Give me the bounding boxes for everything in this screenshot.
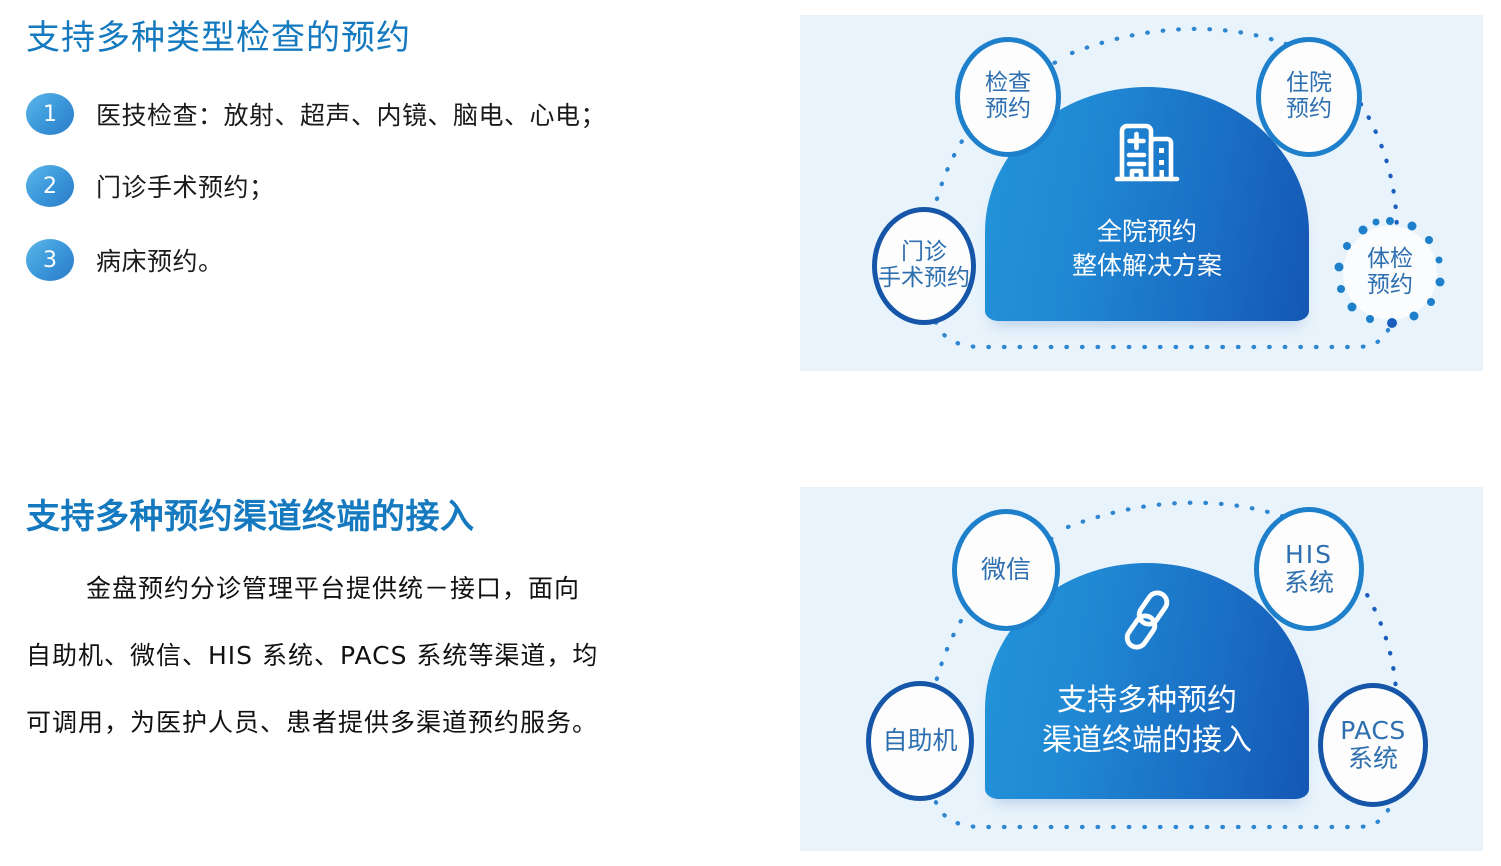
center-label-1-line2: 整体解决方案: [1072, 249, 1222, 283]
paragraph-line-1: 金盘预约分诊管理平台提供统－接口，面向: [26, 555, 726, 622]
section-2-paragraph: 金盘预约分诊管理平台提供统－接口，面向 自助机、微信、HIS 系统、PACS 系…: [26, 555, 726, 756]
link-icon: [1116, 589, 1178, 655]
node-tijian-line2: 预约: [1367, 273, 1413, 299]
node-jiancha-yuyue[interactable]: 检查 预约: [955, 37, 1061, 157]
center-label-2: 支持多种预约 渠道终端的接入: [1042, 681, 1252, 761]
node-kiosk[interactable]: 自助机: [866, 681, 974, 801]
slide-canvas: 支持多种类型检查的预约 1 医技检查：放射、超声、内镜、脑电、心电； 2 门诊手…: [0, 0, 1501, 866]
node-tijian-yuyue[interactable]: 体检 预约: [1342, 223, 1438, 323]
node-menzhen-line1: 门诊: [901, 240, 947, 266]
node-his-system[interactable]: HIS 系统: [1254, 507, 1364, 631]
node-weixin[interactable]: 微信: [952, 509, 1060, 631]
center-label-1-line1: 全院预约: [1072, 215, 1222, 249]
hospital-icon: [1112, 119, 1182, 193]
node-his-line1: HIS: [1284, 541, 1334, 569]
center-label-1: 全院预约 整体解决方案: [1072, 215, 1222, 282]
bullet-text-2: 门诊手术预约；: [96, 168, 275, 204]
node-zhuyuan-yuyue[interactable]: 住院 预约: [1256, 37, 1362, 157]
bullet-badge-3: 3: [26, 239, 74, 281]
center-label-2-line1: 支持多种预约: [1042, 681, 1252, 721]
paragraph-line-3: 可调用，为医护人员、患者提供多渠道预约服务。: [26, 689, 726, 756]
node-menzhen-shoushu-yuyue[interactable]: 门诊 手术预约: [872, 207, 976, 325]
bullet-text-1: 医技检查：放射、超声、内镜、脑电、心电；: [96, 96, 606, 132]
node-pacs-system[interactable]: PACS 系统: [1318, 683, 1428, 807]
center-label-2-line2: 渠道终端的接入: [1042, 721, 1252, 761]
node-weixin-line1: 微信: [981, 556, 1031, 584]
node-zhuyuan-line2: 预约: [1286, 97, 1332, 123]
section-1-title: 支持多种类型检查的预约: [26, 10, 411, 59]
diagram-panel-channel-access: 支持多种预约 渠道终端的接入 微信 HIS 系统 自助机: [800, 487, 1483, 851]
bullet-item-1: 1 医技检查：放射、超声、内镜、脑电、心电；: [26, 86, 606, 142]
diagram-panel-appointment-solution: 全院预约 整体解决方案 检查 预约 住院 预约: [800, 15, 1483, 371]
bullet-badge-1: 1: [26, 93, 74, 135]
paragraph-line-2: 自助机、微信、HIS 系统、PACS 系统等渠道，均: [26, 622, 726, 689]
bullet-item-2: 2 门诊手术预约；: [26, 158, 275, 214]
bullet-item-3: 3 病床预约。: [26, 232, 224, 288]
node-jiancha-line1: 检查: [985, 71, 1031, 97]
section-2-title: 支持多种预约渠道终端的接入: [26, 489, 475, 538]
node-his-line2: 系统: [1284, 569, 1334, 597]
node-pacs-line2: 系统: [1348, 745, 1398, 773]
node-menzhen-line2: 手术预约: [875, 266, 973, 292]
node-pacs-line1: PACS: [1340, 717, 1406, 745]
node-tijian-line1: 体检: [1367, 247, 1413, 273]
node-jiancha-line2: 预约: [985, 97, 1031, 123]
node-kiosk-line1: 自助机: [882, 727, 957, 755]
bullet-badge-2: 2: [26, 165, 74, 207]
bullet-text-3: 病床预约。: [96, 242, 224, 278]
node-zhuyuan-line1: 住院: [1286, 71, 1332, 97]
